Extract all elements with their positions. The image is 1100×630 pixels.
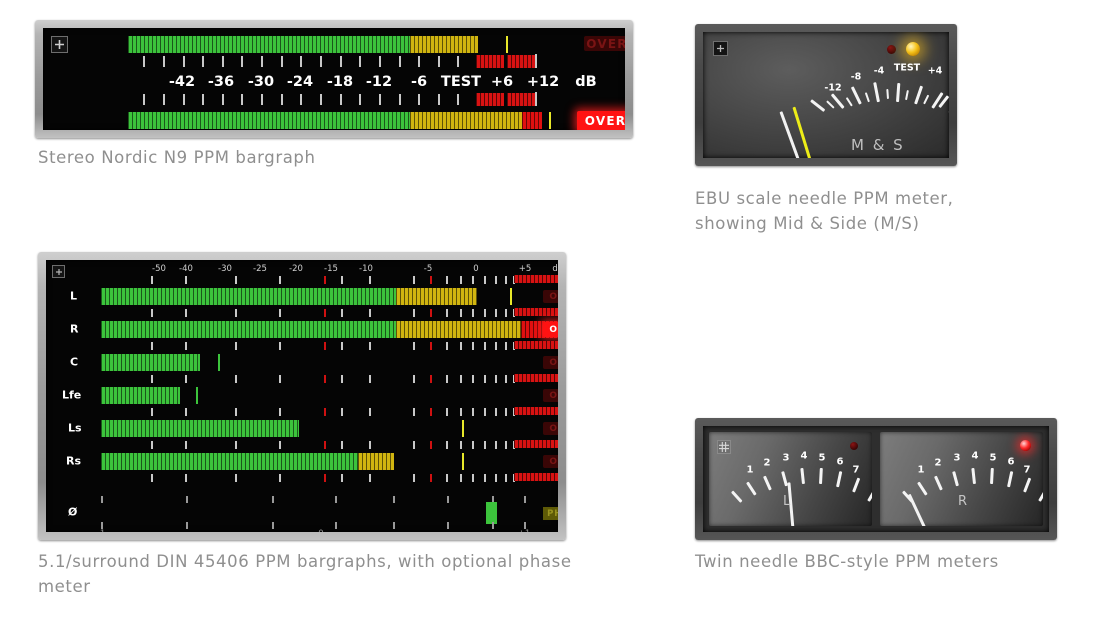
ebu-caption: EBU scale needle PPM meter, showing Mid …	[695, 186, 965, 236]
grid-handle-icon[interactable]	[717, 440, 731, 454]
surround-ticks	[101, 342, 541, 350]
ebu-face-label: M & S	[851, 136, 905, 154]
phase-channel-label: Ø	[68, 506, 77, 519]
channel-label: L	[70, 290, 77, 303]
phase-ticks-top	[96, 496, 546, 503]
nordic-bar-bottom	[128, 112, 583, 129]
phase-scale-min: -1	[97, 529, 105, 532]
plus-handle-icon[interactable]	[52, 265, 65, 278]
nordic-endtick-top	[535, 54, 537, 68]
phase-badge[interactable]: PHASE	[543, 507, 558, 520]
channel-label: Ls	[68, 422, 82, 435]
surround-ticks	[101, 309, 541, 317]
phase-ticks-bottom	[96, 522, 546, 529]
surround-over-Ls[interactable]: OVER	[543, 422, 558, 435]
channel-label: C	[70, 356, 78, 369]
bbc-face-left[interactable]: 1 2 3 4 5 6 7 L	[709, 432, 872, 526]
led-icon	[850, 442, 858, 450]
plus-handle-icon[interactable]	[51, 36, 68, 53]
surround-over-Lfe[interactable]: OVER	[543, 389, 558, 402]
bbc-face-right[interactable]: 1 2 3 4 5 6 7 R	[880, 432, 1043, 526]
channel-label: R	[70, 323, 78, 336]
nordic-over-badge-top[interactable]: OVER	[584, 36, 625, 51]
bbc-needle-right	[908, 494, 958, 526]
nordic-redzone-top-a	[476, 55, 504, 68]
nordic-redzone-bottom-a	[476, 93, 504, 106]
nordic-over-badge-bottom[interactable]: OVER	[577, 111, 625, 130]
channel-label: Rs	[66, 455, 81, 468]
surround-bar-Rs	[101, 453, 541, 470]
surround-bar-C	[101, 354, 541, 371]
surround-bar-R	[101, 321, 541, 338]
surround-ticks	[101, 441, 541, 449]
led-icon	[1020, 440, 1031, 451]
surround-unit-label: dB	[552, 264, 558, 274]
surround-screen: -50 -40 -30 -25 -20 -15 -10 -5 0 +5 dB L	[46, 260, 558, 532]
surround-bar-Lfe	[101, 387, 541, 404]
surround-bar-Ls	[101, 420, 541, 437]
surround-over-R[interactable]: OVER	[543, 322, 558, 337]
nordic-bar-top	[128, 36, 583, 53]
surround-over-L[interactable]: OVER	[543, 290, 558, 303]
surround-ticks	[101, 474, 541, 482]
nordic-n9-meter-panel[interactable]: -42 -36 -30 -24 -18 -12 -6 TEST +6 +12 d…	[35, 20, 633, 138]
surround-over-Rs[interactable]: OVER	[543, 455, 558, 468]
bbc-meter-panel[interactable]: 1 2 3 4 5 6 7 L	[695, 418, 1057, 540]
surround-ticks	[101, 408, 541, 416]
nordic-endtick-bottom	[535, 92, 537, 106]
surround-ticks	[101, 375, 541, 383]
bbc-face-label-right: R	[958, 494, 967, 509]
nordic-unit-label: dB	[575, 74, 596, 90]
nordic-caption: Stereo Nordic N9 PPM bargraph	[38, 145, 316, 170]
phase-indicator	[486, 502, 497, 524]
needle-side	[792, 107, 829, 158]
bbc-caption: Twin needle BBC-style PPM meters	[695, 549, 1025, 574]
surround-ticks	[101, 276, 541, 284]
bbc-screen: 1 2 3 4 5 6 7 L	[703, 426, 1049, 532]
surround-meter-panel[interactable]: -50 -40 -30 -25 -20 -15 -10 -5 0 +5 dB L	[38, 252, 566, 540]
led-icon	[887, 45, 896, 54]
nordic-redzone-bottom-b	[507, 93, 535, 106]
surround-bar-L	[101, 288, 541, 305]
surround-caption: 5.1/surround DIN 45406 PPM bargraphs, wi…	[38, 549, 583, 599]
surround-over-C[interactable]: OVER	[543, 356, 558, 369]
channel-label: Lfe	[62, 389, 81, 402]
nordic-n9-screen: -42 -36 -30 -24 -18 -12 -6 TEST +6 +12 d…	[43, 28, 625, 130]
bbc-face-label-left: L	[783, 494, 790, 509]
ebu-screen: -12 -8 -4 TEST +4 +8 +12 M & S	[703, 32, 949, 158]
led-icon	[906, 42, 920, 56]
ebu-needle-meter-panel[interactable]: -12 -8 -4 TEST +4 +8 +12 M & S	[695, 24, 957, 166]
nordic-redzone-top-b	[507, 55, 535, 68]
phase-scale-mid: 0	[318, 529, 323, 532]
phase-scale-max: +1	[518, 529, 531, 532]
plus-handle-icon[interactable]	[713, 41, 728, 56]
